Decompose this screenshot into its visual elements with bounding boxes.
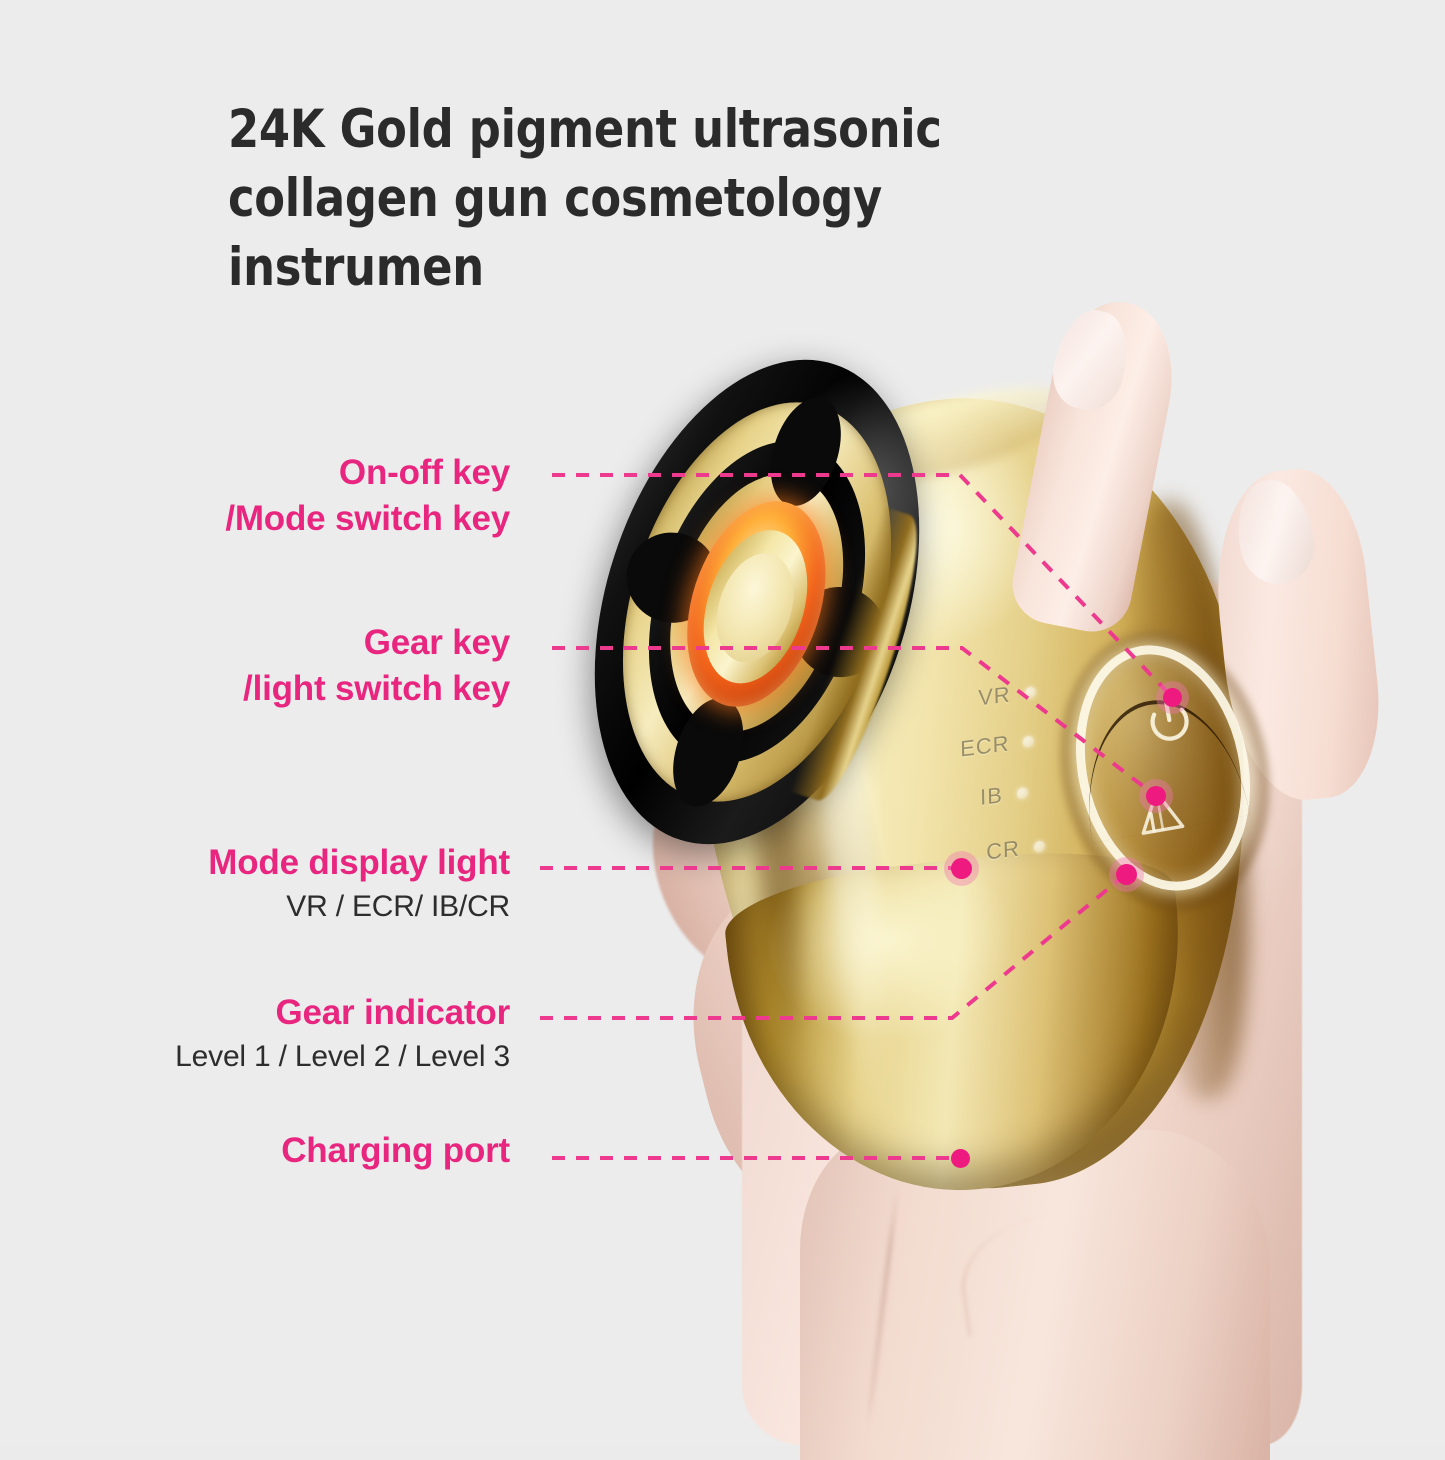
target-dot-charging-port [951, 1149, 970, 1168]
mode-led-ib [1017, 787, 1028, 799]
mode-label-vr: VR [978, 681, 1011, 711]
mode-led-cr [1034, 840, 1045, 852]
mode-label-ib: IB [980, 782, 1003, 811]
mode-led-vr [1024, 686, 1035, 698]
target-dot-gear-indicator [1116, 864, 1137, 885]
target-dot-on-off-key [1163, 688, 1182, 707]
mode-led-ecr [1023, 735, 1034, 747]
infographic-canvas: 24K Gold pigment ultrasonic collagen gun… [0, 0, 1445, 1445]
product-photo: VR ECR IB CR [0, 0, 1445, 1445]
target-dot-gear-key [1146, 786, 1166, 806]
mode-label-cr: CR [986, 835, 1020, 865]
target-dot-mode-display-light [951, 858, 972, 879]
